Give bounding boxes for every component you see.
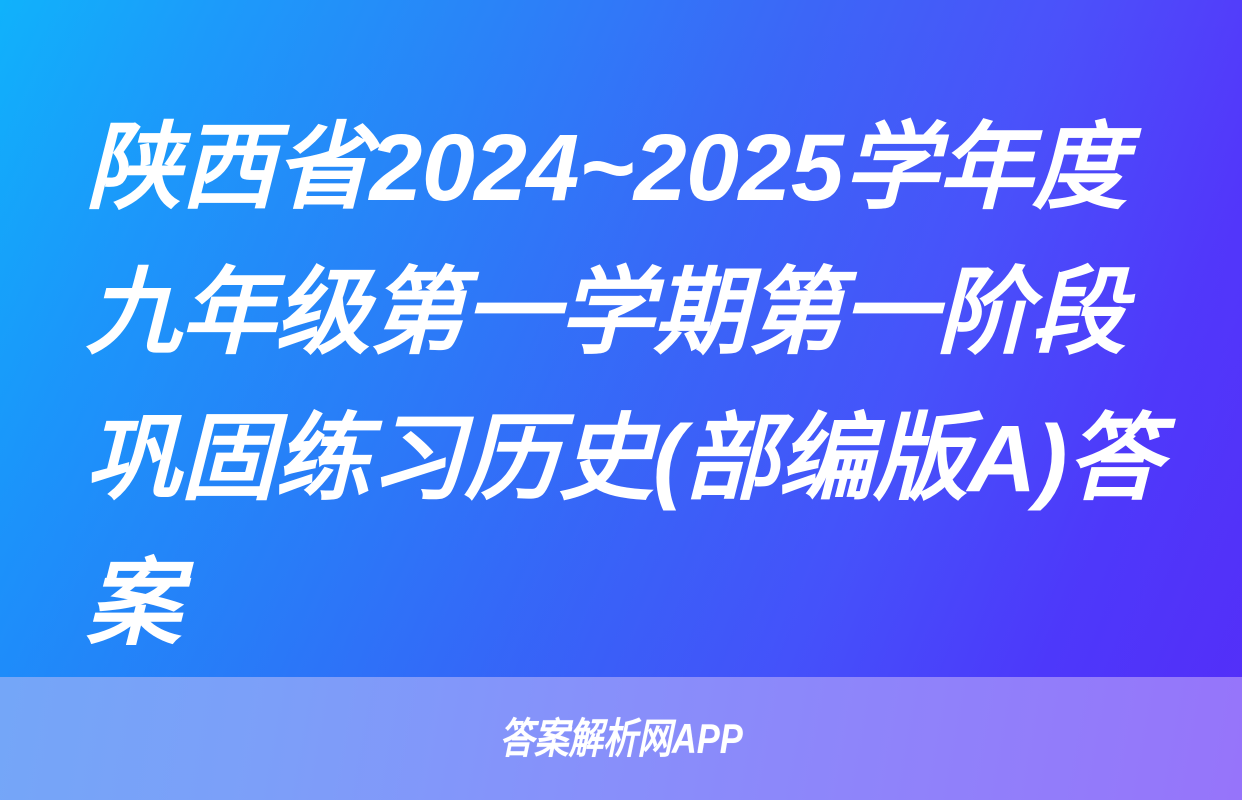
footer-brand-bar: 答案解析网APP (0, 677, 1242, 800)
poster-canvas: 陕西省2024~2025学年度九年级第一学期第一阶段巩固练习历史(部编版A)答案… (0, 0, 1242, 800)
page-title: 陕西省2024~2025学年度九年级第一学期第一阶段巩固练习历史(部编版A)答案 (86, 96, 1168, 677)
footer-brand-label: 答案解析网APP (499, 718, 742, 760)
